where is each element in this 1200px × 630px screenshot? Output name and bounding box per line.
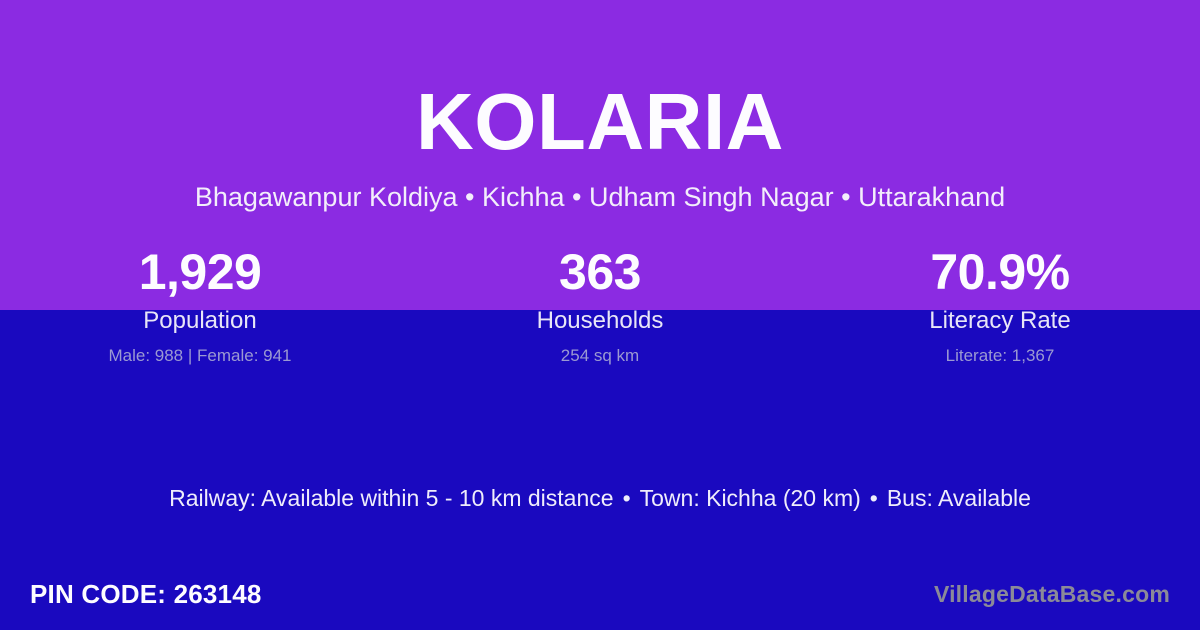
stat-sublabel: Literate: 1,367 [800, 347, 1200, 366]
stat-value: 1,929 [0, 243, 400, 302]
stat-value: 363 [400, 243, 800, 302]
amenity-separator: • [861, 485, 887, 513]
amenity-railway: Railway: Available within 5 - 10 km dist… [169, 485, 613, 511]
stat-sublabel: 254 sq km [400, 347, 800, 366]
amenity-town: Town: Kichha (20 km) [640, 485, 861, 511]
stat-label: Households [400, 308, 800, 334]
statistics-row: 1,929 Population Male: 988 | Female: 941… [0, 243, 1200, 366]
village-info-card: KOLARIA Bhagawanpur Koldiya • Kichha • U… [0, 0, 1200, 630]
footer: PIN CODE: 263148 VillageDataBase.com [0, 558, 1200, 630]
stat-label: Population [0, 308, 400, 334]
breadcrumb: Bhagawanpur Koldiya • Kichha • Udham Sin… [0, 181, 1200, 215]
page-title: KOLARIA [0, 82, 1200, 162]
brand-watermark: VillageDataBase.com [934, 583, 1170, 606]
pin-code: PIN CODE: 263148 [30, 581, 262, 607]
amenity-bus: Bus: Available [887, 485, 1031, 511]
stat-label: Literacy Rate [800, 308, 1200, 334]
stat-households: 363 Households 254 sq km [400, 243, 800, 366]
stat-literacy-rate: 70.9% Literacy Rate Literate: 1,367 [800, 243, 1200, 366]
stat-population: 1,929 Population Male: 988 | Female: 941 [0, 243, 400, 366]
amenity-separator: • [614, 485, 640, 513]
stat-sublabel: Male: 988 | Female: 941 [0, 347, 400, 366]
amenities-row: Railway: Available within 5 - 10 km dist… [0, 485, 1200, 513]
stat-value: 70.9% [800, 243, 1200, 302]
